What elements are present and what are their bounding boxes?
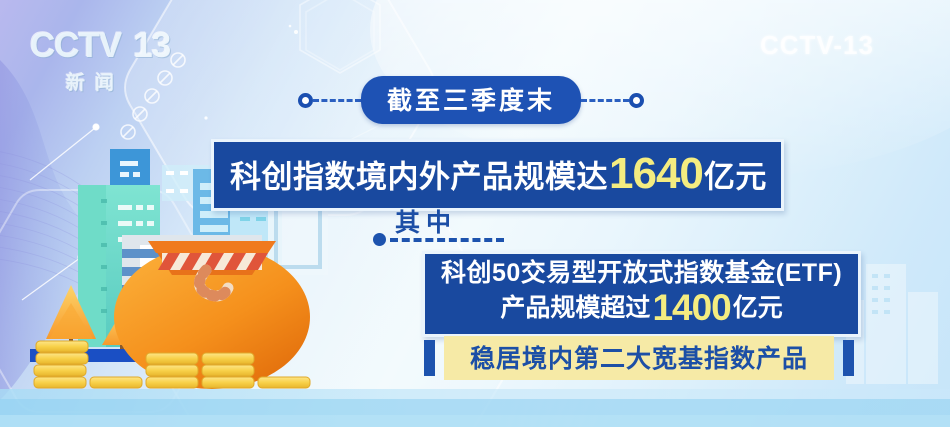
detail-text-before: 产品规模超过	[500, 294, 650, 322]
left-dash-icon	[313, 99, 361, 102]
among-dot-icon	[373, 233, 386, 246]
footnote-highlight: 稳居境内第二大宽基指数产品	[444, 336, 834, 380]
footnote-band: 稳居境内第二大宽基指数产品	[424, 336, 854, 380]
logo-subtitle: 新闻	[66, 68, 200, 95]
header-pill-row: 截至三季度末	[298, 76, 644, 124]
period-label: 截至三季度末	[361, 76, 581, 124]
logo-main-text: CCTV	[30, 26, 121, 65]
headline-number: 1640	[609, 149, 703, 198]
among-dash-icon	[390, 238, 504, 242]
channel-watermark: CCTV-13	[760, 30, 874, 61]
detail-text-after: 亿元	[733, 294, 783, 322]
footnote-label: 稳居境内第二大宽基指数产品	[470, 345, 808, 373]
logo-text: CCTV13	[30, 28, 200, 64]
headline-text-after: 亿元	[704, 160, 767, 195]
footnote-right-bar-icon	[843, 340, 854, 376]
detail-line-2: 产品规模超过1400亿元	[441, 289, 842, 327]
logo-channel-number: 13	[121, 28, 174, 64]
among-label: 其中	[395, 203, 457, 239]
detail-banner: 科创50交易型开放式指数基金(ETF) 产品规模超过1400亿元	[422, 251, 861, 337]
headline-text-before: 科创指数境内外产品规模达	[230, 160, 608, 195]
detail-line-1: 科创50交易型开放式指数基金(ETF)	[441, 258, 842, 289]
left-node-icon	[298, 93, 313, 108]
detail-number: 1400	[652, 287, 730, 328]
cctv13-logo: CCTV13 新闻	[30, 28, 200, 96]
footnote-left-bar-icon	[424, 340, 435, 376]
headline-banner: 科创指数境内外产品规模达1640亿元	[211, 139, 784, 211]
right-node-icon	[629, 93, 644, 108]
broadcast-graphic: CCTV13 新闻 CCTV-13	[0, 0, 950, 427]
right-dash-icon	[581, 99, 629, 102]
